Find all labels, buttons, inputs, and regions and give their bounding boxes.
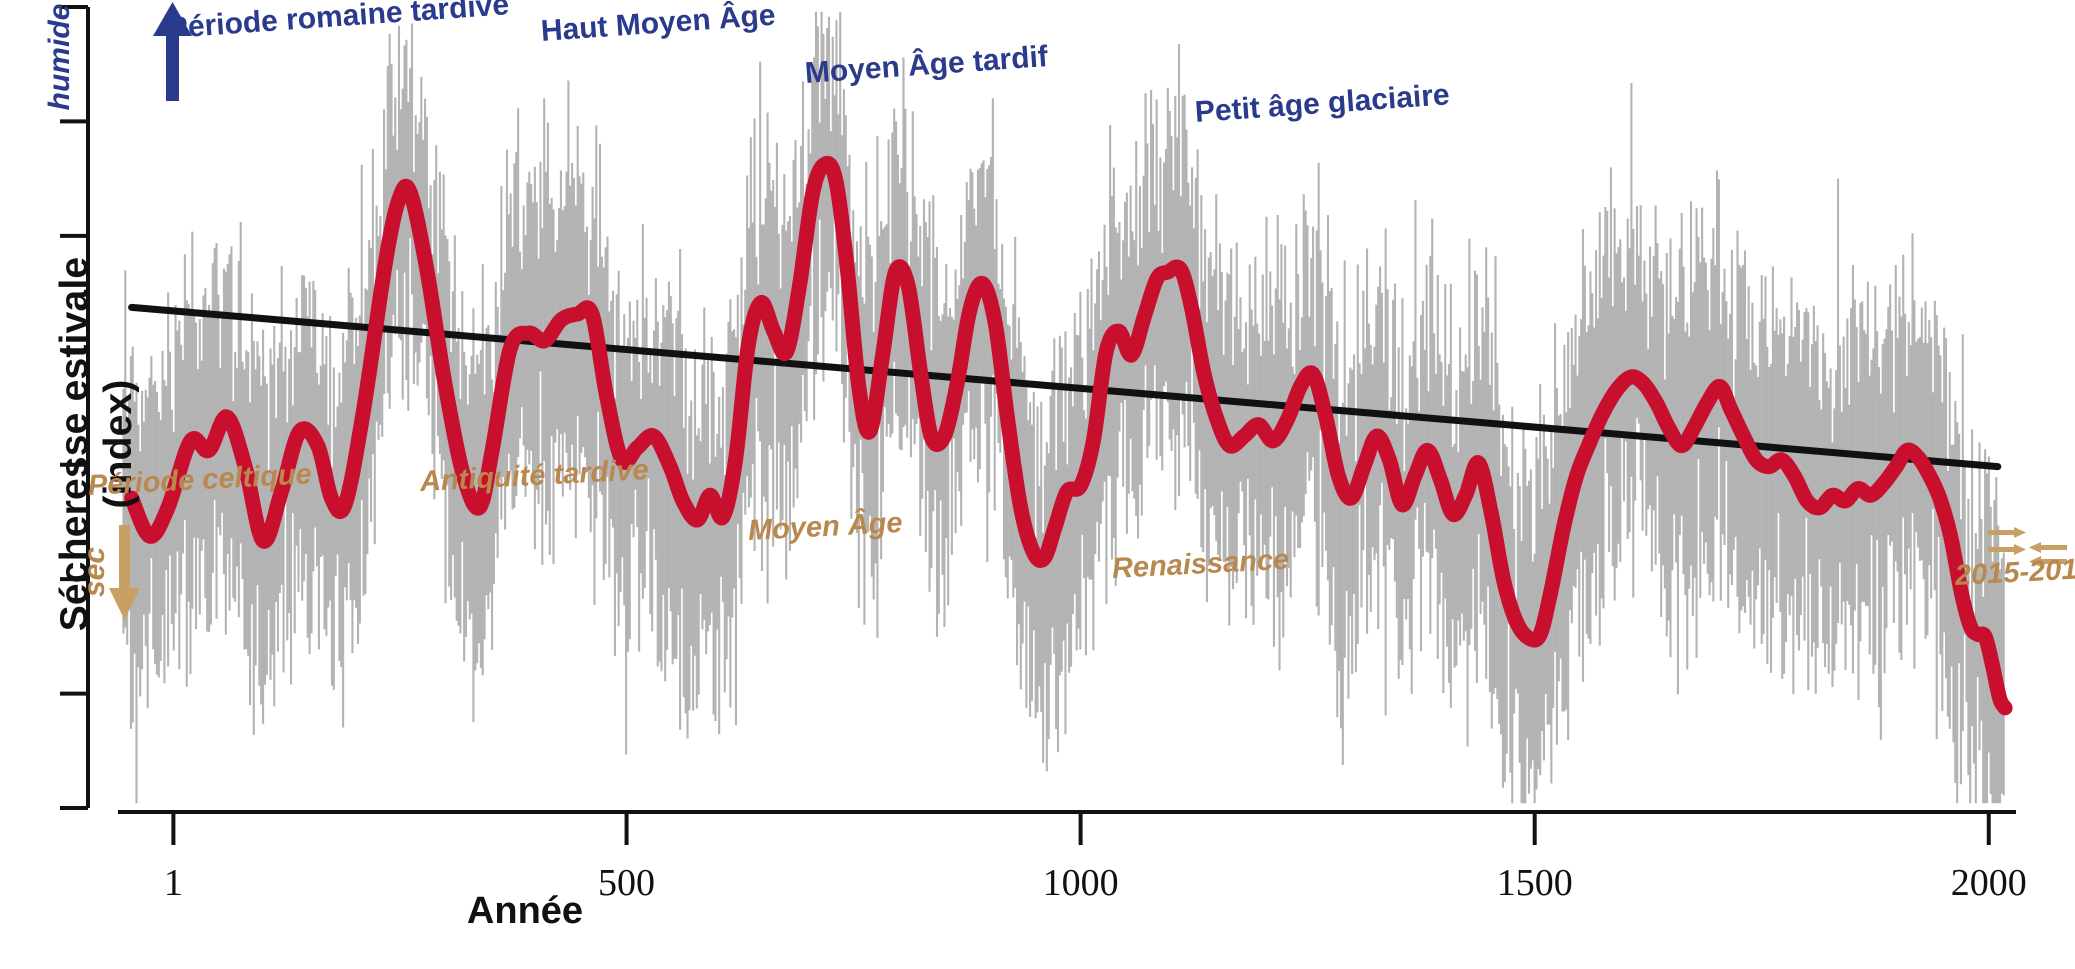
x-tick-label: 1500 [1497, 862, 1573, 904]
annual-series-sticks [123, 12, 2003, 803]
warm-period-label-5: 2015-2018 [1954, 553, 2075, 593]
chart-figure: Sécheresse estivale (index) Année humide… [0, 0, 2075, 969]
sec-direction-label: sec [78, 517, 112, 627]
humide-direction-label: humide [43, 0, 77, 122]
x-tick-label: 2000 [1951, 862, 2027, 904]
x-axis-title: Année [0, 890, 1050, 933]
x-tick-label: 1000 [1043, 862, 1119, 904]
